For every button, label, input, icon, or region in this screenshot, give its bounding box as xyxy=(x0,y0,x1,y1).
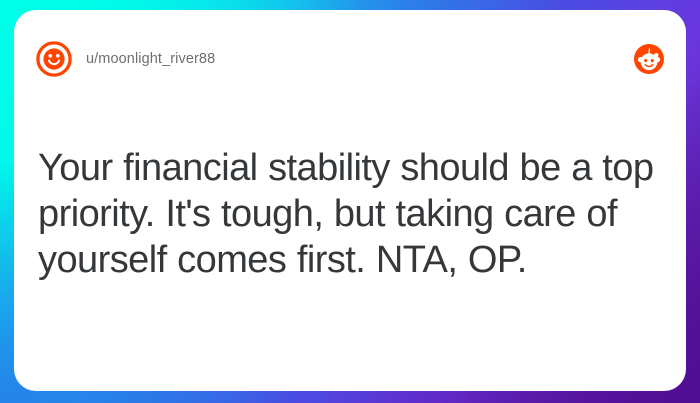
post-text: Your financial stability should be a top… xyxy=(38,145,656,283)
smiley-face-avatar-icon xyxy=(36,41,72,77)
post-header: u/moonlight_river88 xyxy=(14,10,686,107)
post-body: Your financial stability should be a top… xyxy=(14,107,686,283)
username-label: u/moonlight_river88 xyxy=(86,51,215,67)
post-card: u/moonlight_river88 Your financial stabi… xyxy=(14,10,686,391)
reddit-snoo-icon[interactable] xyxy=(634,44,664,74)
